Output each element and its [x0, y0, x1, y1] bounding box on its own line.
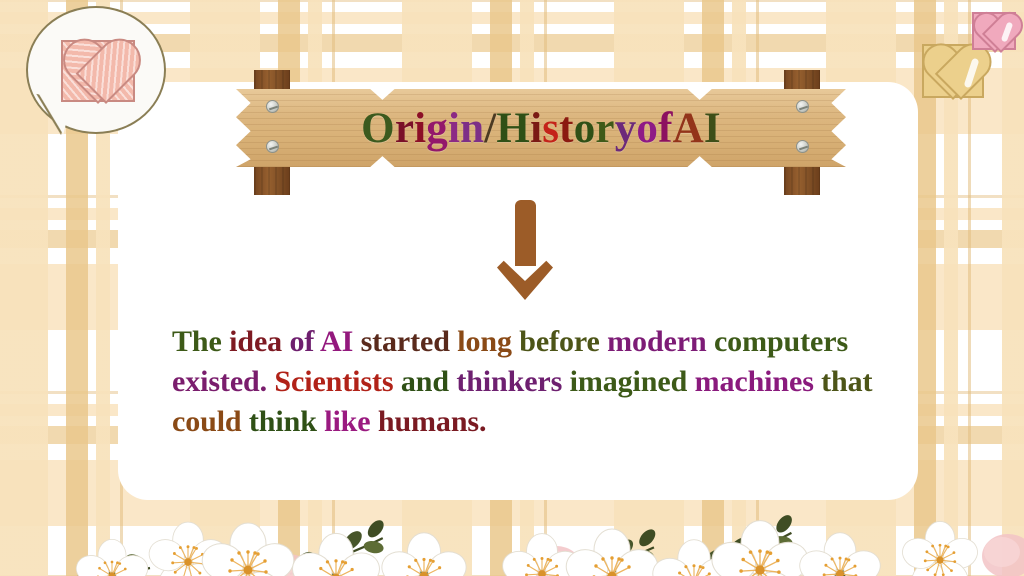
body-run-10: Scientists — [274, 365, 400, 398]
title-run-16: f — [658, 104, 673, 153]
arrow-stem — [515, 200, 536, 266]
body-run-19: humans. — [378, 405, 487, 438]
title-run-1: r — [395, 104, 414, 153]
title-run-2: i — [414, 104, 426, 153]
body-run-15: that — [821, 365, 872, 398]
slide-canvas: Origin / History of AI The idea of AI st… — [0, 0, 1024, 576]
title-run-11: o — [574, 104, 596, 153]
title-run-0: O — [361, 104, 395, 153]
title-run-15: o — [636, 104, 658, 153]
title-run-3: g — [426, 104, 448, 153]
page-title: Origin / History of AI — [236, 89, 846, 167]
title-run-8: i — [530, 104, 542, 153]
title-run-6: / — [484, 104, 496, 153]
body-run-9: existed. — [172, 365, 274, 398]
title-run-4: i — [448, 104, 460, 153]
title-run-12: r — [595, 104, 614, 153]
body-run-16: could — [172, 405, 249, 438]
body-run-17: think — [249, 405, 324, 438]
body-run-0: The — [172, 325, 229, 358]
body-run-11: and — [401, 365, 456, 398]
title-run-18: A — [673, 104, 704, 153]
body-run-3: AI — [320, 325, 361, 358]
body-paragraph: The idea of AI started long before moder… — [172, 322, 902, 442]
title-run-9: s — [542, 104, 559, 153]
title-run-13: y — [615, 104, 637, 153]
title-run-7: H — [496, 104, 530, 153]
body-run-2: of — [289, 325, 320, 358]
title-run-19: I — [704, 104, 721, 153]
arrow-down-icon — [497, 200, 553, 300]
body-run-13: imagined — [570, 365, 695, 398]
body-run-8: computers — [714, 325, 848, 358]
wooden-signboard: Origin / History of AI — [236, 70, 846, 195]
heart-icon — [61, 40, 135, 102]
title-run-10: t — [559, 104, 574, 153]
body-run-5: long — [457, 325, 519, 358]
body-run-7: modern — [607, 325, 714, 358]
speech-bubble-decoration — [12, 4, 182, 154]
body-run-4: started — [361, 325, 458, 358]
body-run-18: like — [324, 405, 378, 438]
body-run-1: idea — [229, 325, 289, 358]
title-run-5: n — [460, 104, 484, 153]
body-run-12: thinkers — [456, 365, 569, 398]
floral-border — [0, 456, 1024, 576]
body-run-14: machines — [695, 365, 822, 398]
body-run-6: before — [519, 325, 607, 358]
